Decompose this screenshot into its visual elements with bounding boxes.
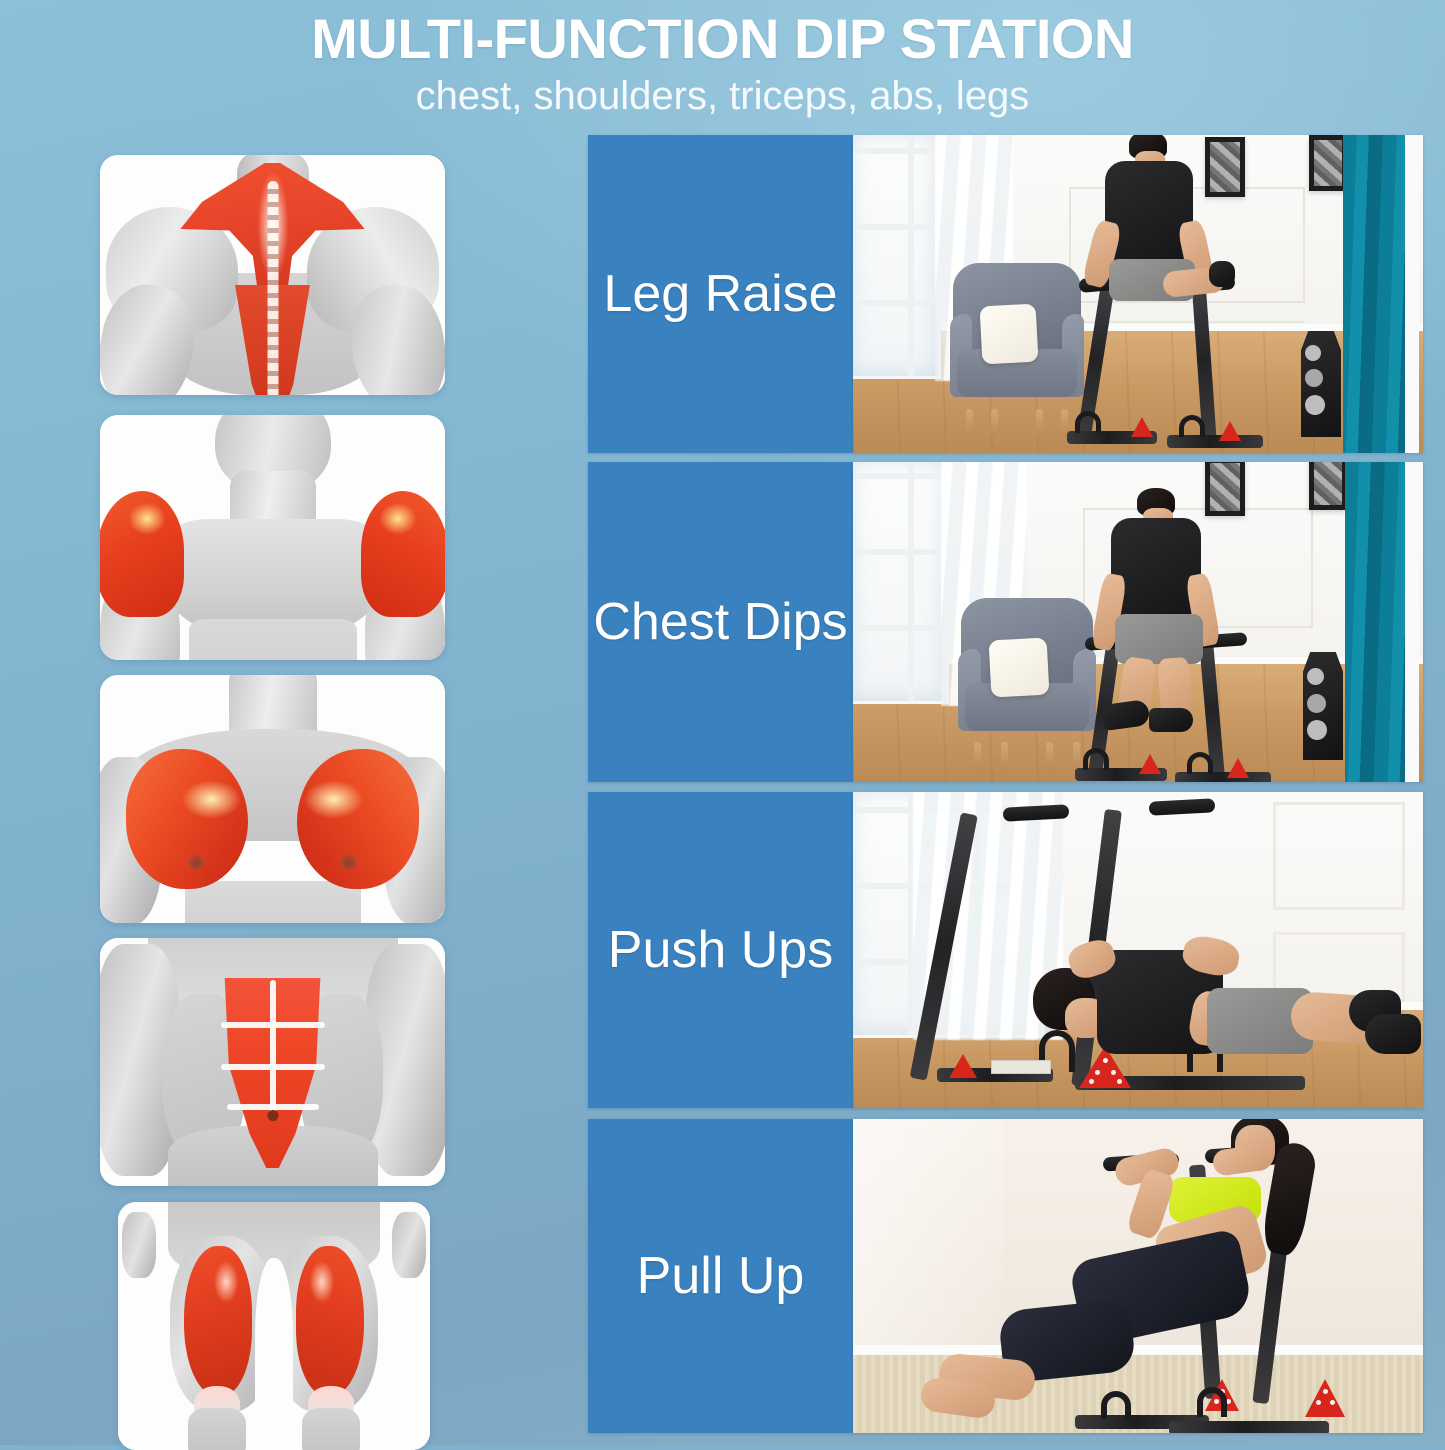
- chest-dips-photo: [853, 462, 1423, 782]
- exercise-row-chest-dips[interactable]: Chest Dips: [588, 462, 1423, 782]
- armchair: [961, 598, 1093, 756]
- chest-illustration: [100, 675, 445, 923]
- exercise-label: Chest Dips: [593, 593, 847, 651]
- label-panel-pull-up: Pull Up: [588, 1119, 853, 1433]
- label-panel-push-ups: Push Ups: [588, 792, 853, 1108]
- label-panel-chest-dips: Chest Dips: [588, 462, 853, 782]
- wall-frame-left: [1205, 137, 1245, 197]
- page-title: MULTI-FUNCTION DIP STATION: [0, 7, 1445, 71]
- exercise-label: Leg Raise: [603, 265, 837, 323]
- muscle-card-legs-quadriceps: [118, 1202, 430, 1450]
- exercise-label: Push Ups: [608, 921, 833, 979]
- armchair: [953, 263, 1081, 423]
- header: MULTI-FUNCTION DIP STATION chest, should…: [0, 0, 1445, 128]
- muscle-card-shoulders-deltoids: [100, 415, 445, 660]
- exercise-row-push-ups[interactable]: Push Ups: [588, 792, 1423, 1108]
- abs-illustration: [100, 938, 445, 1186]
- upper-back-illustration: [100, 155, 445, 395]
- exercise-row-pull-up[interactable]: Pull Up: [588, 1119, 1423, 1433]
- label-panel-leg-raise: Leg Raise: [588, 135, 853, 453]
- leg-raise-photo: [853, 135, 1423, 453]
- legs-illustration: [118, 1202, 430, 1450]
- muscle-card-abs-rectus-abdominis: [100, 938, 445, 1186]
- pull-up-photo: [853, 1119, 1423, 1433]
- wall-frame-right: [1309, 462, 1347, 510]
- wall-frame-left: [1205, 462, 1245, 516]
- infographic-page: MULTI-FUNCTION DIP STATION chest, should…: [0, 0, 1445, 1445]
- push-ups-photo: [853, 792, 1423, 1108]
- shoulders-illustration: [100, 415, 445, 660]
- page-subtitle: chest, shoulders, triceps, abs, legs: [0, 72, 1445, 120]
- exercise-row-leg-raise[interactable]: Leg Raise: [588, 135, 1423, 453]
- exercise-label: Pull Up: [637, 1247, 805, 1305]
- muscle-card-upper-back-traps: [100, 155, 445, 395]
- muscle-card-chest-pectorals: [100, 675, 445, 923]
- wall-frame-right: [1309, 135, 1347, 191]
